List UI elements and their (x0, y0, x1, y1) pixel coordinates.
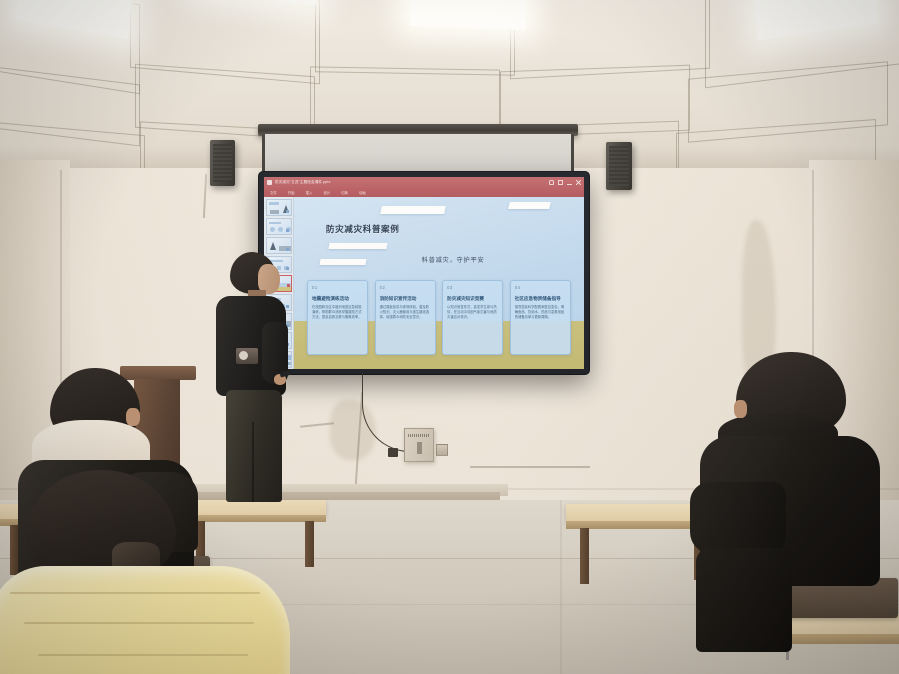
ribbon-tab-transition[interactable]: 切换 (341, 190, 348, 195)
card-body: 通过展板宣讲与现场体验，普及防火知识、灭火器使用与逃生路线选择，增强群众消防安全… (380, 305, 431, 320)
student-right (690, 352, 899, 652)
wall-speaker-left (210, 140, 235, 186)
slide-thumbnail[interactable] (266, 199, 292, 216)
decor-ribbon (328, 243, 387, 249)
ribbon-tab-home[interactable]: 开始 (288, 190, 295, 195)
presenter (212, 252, 298, 502)
decor-ribbon (380, 206, 445, 214)
slide-card[interactable]: 01 地震避险演练活动 在校园和社区中组织地震应急疏散演练，帮助群众熟练掌握避险… (307, 280, 368, 356)
slide-canvas[interactable]: 防灾减灾科普案例 科普减灾，守护平安 01 地震避险演练活动 在校园和社区中组织… (294, 197, 584, 369)
slide-card[interactable]: 02 消防知识宣传活动 通过展板宣讲与现场体验，普及防火知识、灭火器使用与逃生路… (375, 280, 436, 356)
document-name: 防灾减灾"五进"主题班会课件.pptx (275, 180, 330, 185)
close-icon[interactable] (576, 180, 581, 185)
decor-ribbon (319, 259, 367, 265)
presentation-app-window[interactable]: 防灾减灾"五进"主题班会课件.pptx 文件 开始 插入 设计 切换 动画 (264, 177, 584, 369)
decor-ribbon (508, 202, 550, 209)
card-number: 02 (380, 285, 431, 290)
student-ear (126, 408, 140, 426)
ribbon-tab-bar[interactable]: 文件 开始 插入 设计 切换 动画 (264, 188, 584, 197)
app-logo-icon (267, 180, 272, 185)
student-left-foreground (0, 470, 300, 674)
wall-outlet (436, 444, 448, 456)
window-controls[interactable] (549, 180, 581, 185)
card-number: 03 (447, 285, 498, 290)
app-title-bar: 防灾减灾"五进"主题班会课件.pptx (264, 177, 584, 188)
card-number: 01 (312, 285, 363, 290)
minimize-icon[interactable] (567, 180, 572, 185)
slide-title: 防灾减灾科普案例 (326, 223, 400, 235)
slide-card[interactable]: 04 社区应急物资储备指导 指导居民科学配置家庭应急包，明确食品、饮用水、药品与… (510, 280, 571, 356)
wall-speaker-right (606, 142, 632, 190)
card-body: 指导居民科学配置家庭应急包，明确食品、饮用水、药品与急救用品的储备清单与更新周期… (515, 305, 566, 320)
slide-subtitle: 科普减灾，守护平安 (422, 255, 485, 264)
card-heading: 防灾减灾知识竞赛 (447, 296, 498, 302)
card-heading: 消防知识宣传活动 (380, 296, 431, 302)
desk-leg (580, 528, 589, 584)
slide-card[interactable]: 03 防灾减灾知识竞赛 以知识竞答形式，激发学生参与热情，在互动中巩固气象灾害与… (442, 280, 503, 356)
ribbon-tab-file[interactable]: 文件 (270, 190, 277, 195)
student-yellow-puffer-jacket (0, 566, 290, 674)
student-leg (696, 548, 792, 652)
ribbon-tab-insert[interactable]: 插入 (306, 190, 313, 195)
card-heading: 社区应急物资储备指导 (515, 296, 566, 302)
slide-thumbnail[interactable] (266, 218, 292, 235)
student-ear (734, 400, 747, 418)
ceiling-light-panel (410, 0, 526, 30)
classroom-photo-scene: 防灾减灾"五进"主题班会课件.pptx 文件 开始 插入 设计 切换 动画 (0, 0, 899, 674)
interactive-display[interactable]: 防灾减灾"五进"主题班会课件.pptx 文件 开始 插入 设计 切换 动画 (259, 172, 589, 374)
ribbon-tab-design[interactable]: 设计 (323, 190, 330, 195)
desk-leg (305, 521, 314, 567)
cloud-sync-icon[interactable] (549, 180, 554, 185)
restore-icon[interactable] (558, 180, 563, 185)
slide-card-row: 01 地震避险演练活动 在校园和社区中组织地震应急疏散演练，帮助群众熟练掌握避险… (307, 280, 571, 356)
display-screen[interactable]: 防灾减灾"五进"主题班会课件.pptx 文件 开始 插入 设计 切换 动画 (264, 177, 584, 369)
wall-electrical-box (404, 428, 434, 462)
card-number: 04 (515, 285, 566, 290)
ribbon-tab-animation[interactable]: 动画 (359, 190, 366, 195)
wall-plug (388, 448, 398, 457)
card-body: 在校园和社区中组织地震应急疏散演练，帮助群众熟练掌握避险方式方法，提高自救互救与… (312, 305, 363, 320)
presenter-jacket-badge (236, 348, 258, 364)
card-heading: 地震避险演练活动 (312, 296, 363, 302)
card-body: 以知识竞答形式，激发学生参与热情，在互动中巩固气象灾害与地质灾害应对常识。 (447, 305, 498, 320)
student-arm (690, 482, 786, 554)
